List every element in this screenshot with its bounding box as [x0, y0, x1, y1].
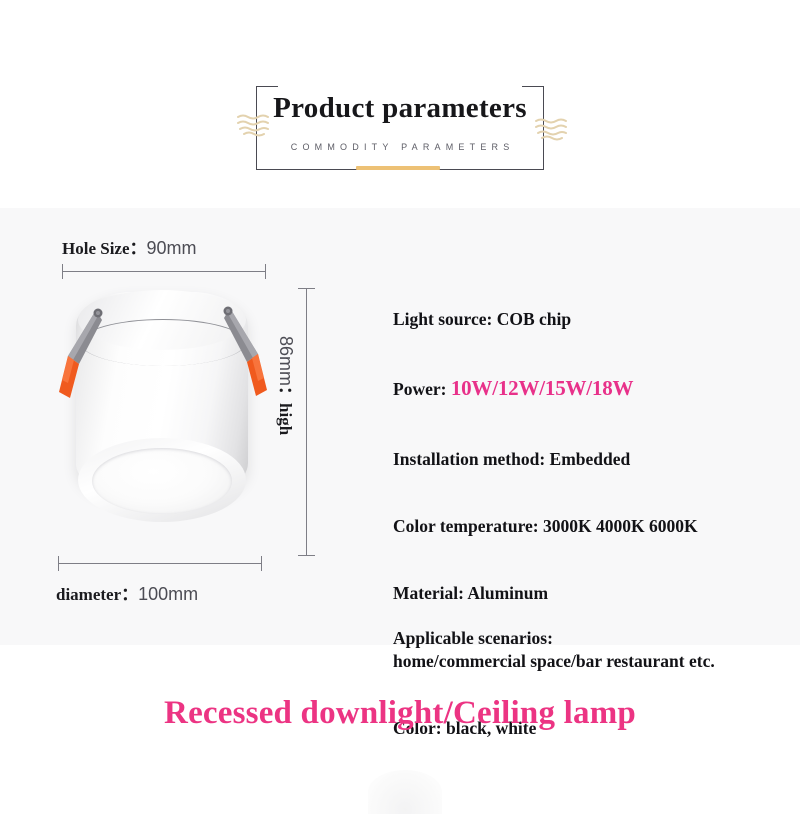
downlight-product-illustration [68, 292, 258, 524]
spec-item-applicable-scenarios: Applicable scenarios: home/commercial sp… [393, 627, 783, 674]
spec-item-installation-method: Installation method: Embedded [393, 426, 783, 470]
page-title: Product parameters [256, 92, 544, 125]
footer-product-title: Recessed downlight/Ceiling lamp [0, 695, 800, 732]
lamp-diffuser-lens [92, 448, 232, 514]
height-value: 86mm [276, 336, 296, 386]
dimension-line [58, 563, 262, 564]
hole-size-dimension-line [62, 264, 266, 278]
spec-item-material: Material: Aluminum [393, 560, 783, 604]
dimension-end-cap [261, 556, 262, 571]
specification-panel: Hole Size：90mm 86mm：high diameter：100mm … [0, 208, 800, 645]
specification-list: Light source: COB chip Power: 10W/12W/15… [393, 286, 783, 762]
product-photo [48, 280, 298, 538]
spec-text: Power: [393, 379, 451, 399]
dimension-end-cap [58, 556, 59, 571]
diameter-separator: ： [121, 585, 138, 604]
height-label-text: high [276, 403, 295, 435]
diameter-dimension-line [58, 556, 262, 570]
height-label: 86mm：high [275, 336, 300, 435]
spec-text: Installation method: Embedded [393, 449, 630, 469]
diameter-value: 100mm [138, 584, 198, 604]
lamp-glow-decoration [368, 770, 442, 814]
header-banner: Product parameters COMMODITY PARAMETERS [0, 0, 800, 208]
spec-text: Material: Aluminum [393, 583, 548, 603]
dimension-line [306, 288, 307, 556]
spec-text: Light source: COB chip [393, 309, 571, 329]
page-subtitle: COMMODITY PARAMETERS [256, 142, 544, 152]
height-separator: ： [276, 386, 295, 403]
dimension-end-cap [265, 264, 266, 279]
spec-item-color-temperature: Color temperature: 3000K 4000K 6000K [393, 493, 783, 537]
dimension-line [62, 271, 266, 272]
hole-size-label-text: Hole Size [62, 239, 130, 258]
diameter-label-text: diameter [56, 585, 121, 604]
spring-clip-left-icon [58, 306, 104, 408]
dimension-end-cap [298, 288, 315, 289]
diameter-label: diameter：100mm [56, 580, 198, 605]
spec-item-light-source: Light source: COB chip [393, 286, 783, 330]
spring-clip-right-icon [222, 304, 268, 406]
spec-accent-value: 10W/12W/15W/18W [451, 376, 634, 400]
hole-size-separator: ： [130, 239, 147, 258]
frame-gold-accent [356, 166, 440, 170]
dimension-end-cap [298, 555, 315, 556]
frame-top-right-segment [522, 86, 544, 87]
spec-text: Color temperature: 3000K 4000K 6000K [393, 516, 698, 536]
spec-item-power: Power: 10W/12W/15W/18W [393, 353, 783, 402]
frame-top-left-segment [256, 86, 278, 87]
dimension-end-cap [62, 264, 63, 279]
hole-size-label: Hole Size：90mm [62, 234, 197, 259]
hole-size-value: 90mm [147, 238, 197, 258]
